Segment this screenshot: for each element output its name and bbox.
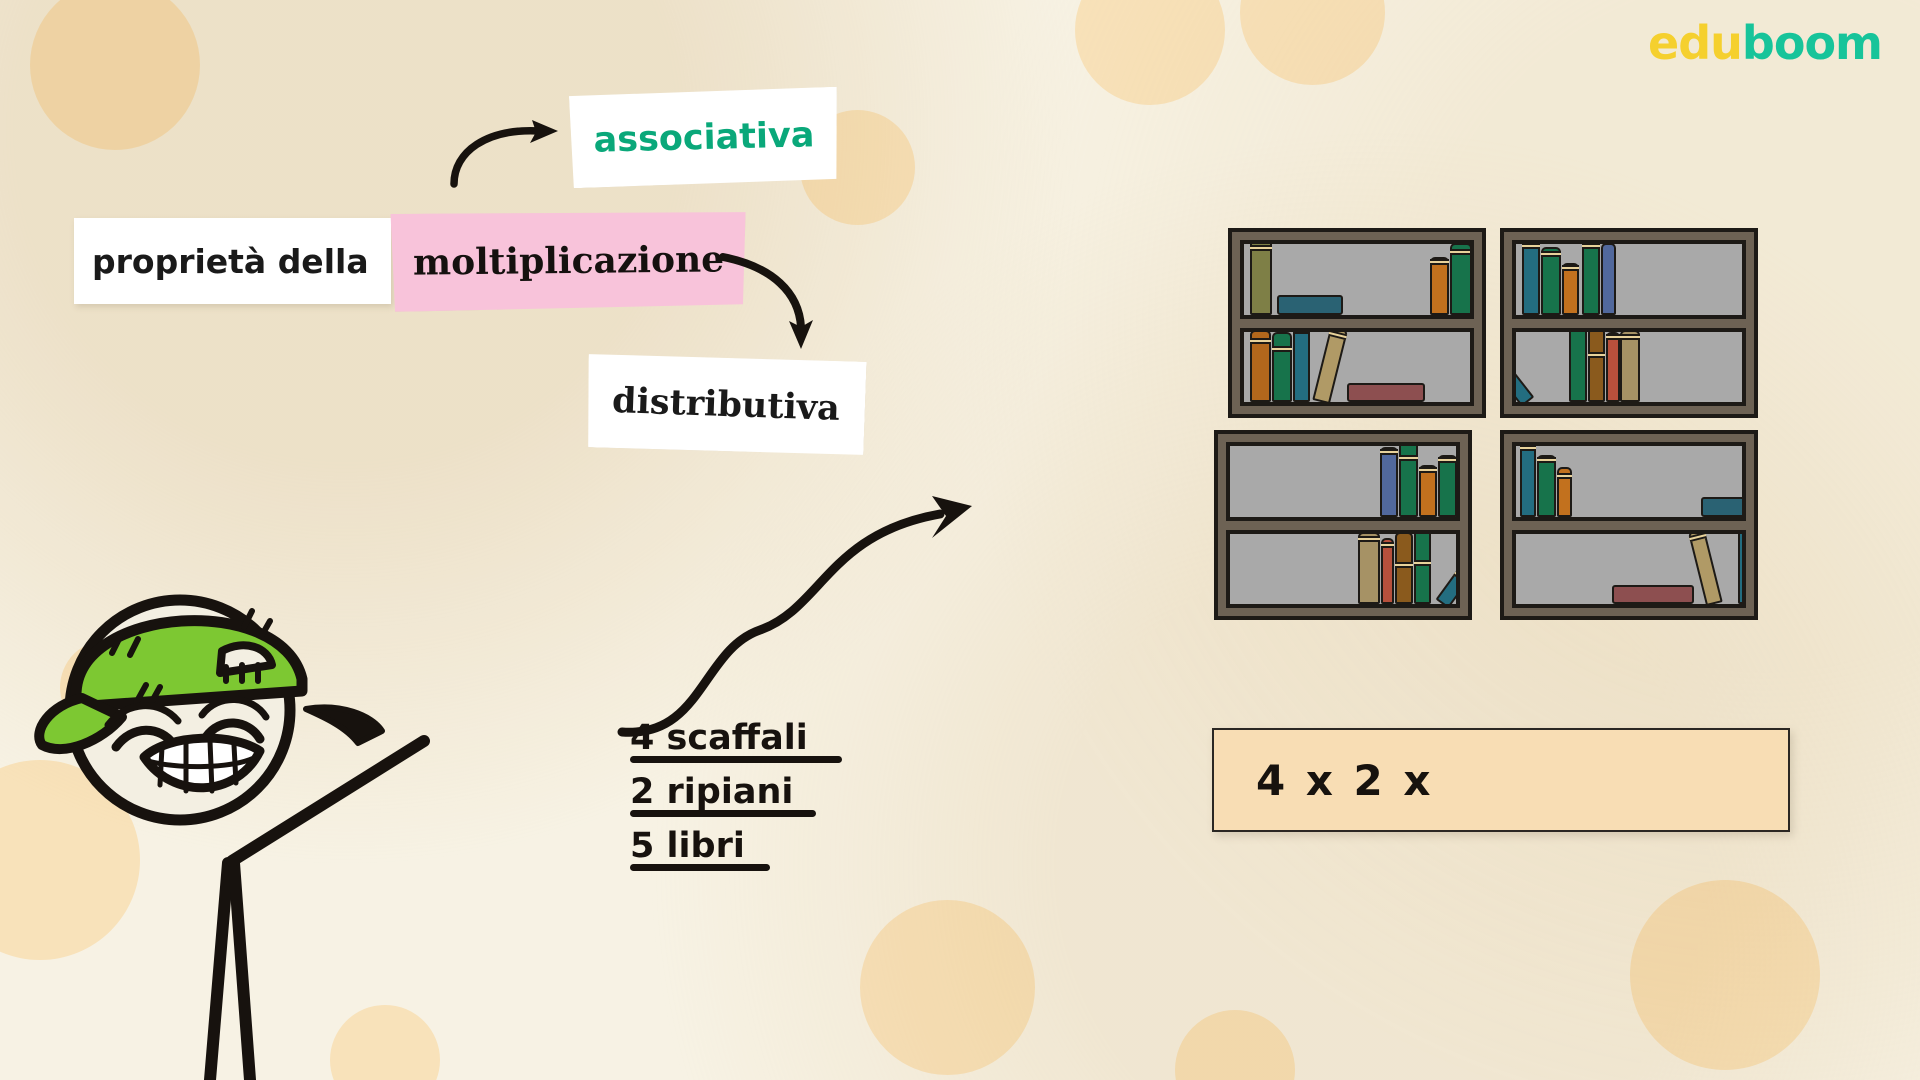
book-spine — [1569, 328, 1587, 403]
formula-box: 4 x 2 x — [1212, 728, 1790, 832]
book-band — [1380, 449, 1398, 455]
book-band — [1689, 532, 1707, 542]
formula-expression: 4 x 2 x — [1256, 756, 1434, 805]
book-band — [1399, 455, 1418, 461]
book-band — [1419, 467, 1437, 473]
stick-figure-character — [20, 555, 540, 1080]
brand-logo-edu: edu — [1648, 16, 1742, 70]
title-keyword-card: moltiplicazione — [390, 210, 746, 312]
bookshelf-unit-bottom-left — [1214, 430, 1472, 620]
book-spine — [1450, 243, 1472, 315]
book-band — [1293, 328, 1310, 334]
book-band — [1250, 338, 1271, 344]
book-spine — [1582, 240, 1600, 315]
book-spine — [1473, 240, 1474, 315]
book-spine — [1380, 447, 1398, 517]
book-spine — [1601, 243, 1616, 315]
bookshelf-row — [1512, 530, 1746, 609]
book-spine — [1512, 358, 1534, 406]
book-spine — [1395, 532, 1413, 604]
book-band — [1438, 457, 1457, 463]
title-strip: proprietà della moltiplicazione — [74, 218, 746, 304]
book-spine — [1419, 465, 1437, 517]
book-band — [1569, 328, 1587, 331]
character-leg-left — [210, 863, 228, 1080]
book-flat — [1277, 295, 1343, 315]
book-spine — [1414, 530, 1431, 605]
book-flat — [1701, 497, 1746, 517]
quantity-line-2: 5 libri — [630, 826, 745, 866]
book-spine — [1620, 330, 1640, 402]
branch-label-distributiva: distributiva — [611, 380, 840, 429]
bookshelf-unit-top-left — [1228, 228, 1486, 418]
book-spine — [1557, 467, 1572, 517]
title-prefix-label: proprietà della — [92, 242, 369, 281]
bookshelf-unit-top-right — [1500, 228, 1758, 418]
brand-logo: eduboom — [1648, 16, 1882, 70]
bookshelf-row — [1512, 240, 1746, 319]
book-band — [1522, 243, 1540, 249]
book-band — [1453, 570, 1460, 584]
book-band — [1430, 259, 1449, 265]
book-spine — [1438, 455, 1457, 517]
book-band — [1381, 542, 1394, 548]
bookshelf-grid — [1228, 228, 1860, 688]
bookshelf-row — [1512, 328, 1746, 407]
book-spine — [1381, 538, 1394, 604]
book-flat — [1347, 383, 1425, 402]
book-spine — [1537, 455, 1556, 517]
book-band — [1358, 536, 1380, 542]
book-band — [1582, 243, 1600, 249]
book-band — [1606, 334, 1620, 340]
list-item: 4 scaffali — [630, 718, 842, 763]
branch-card-associativa: associativa — [569, 87, 839, 189]
branch-card-distributiva: distributiva — [585, 352, 866, 457]
book-band — [1537, 457, 1556, 463]
quantity-line-1: 2 ripiani — [630, 772, 793, 812]
character-leg-right — [234, 863, 250, 1080]
book-band — [1250, 245, 1272, 251]
book-band — [1557, 473, 1572, 479]
book-band — [1541, 251, 1561, 257]
book-spine — [1738, 530, 1746, 605]
book-spine — [1250, 240, 1272, 315]
book-spine — [1436, 562, 1460, 608]
book-band — [1473, 240, 1474, 245]
book-band — [1620, 334, 1640, 340]
book-band — [1738, 530, 1746, 535]
book-band — [1520, 445, 1536, 451]
bookshelf-unit-bottom-right — [1500, 430, 1758, 620]
book-spine — [1358, 532, 1380, 604]
bookshelf-row — [1512, 442, 1746, 521]
list-item: 2 ripiani — [630, 772, 842, 817]
bookshelf-row — [1240, 328, 1474, 407]
book-spine — [1458, 442, 1460, 517]
book-spine — [1588, 328, 1605, 402]
list-item: 5 libri — [630, 826, 842, 871]
book-spine — [1541, 247, 1561, 315]
book-band — [1562, 265, 1579, 271]
book-band — [1588, 352, 1605, 358]
quantities-list: 4 scaffali 2 ripiani 5 libri — [630, 718, 842, 880]
book-band — [1272, 346, 1292, 352]
book-spine — [1272, 332, 1292, 402]
book-spine — [1250, 330, 1271, 402]
bookshelf-row — [1226, 442, 1460, 521]
bookshelf-row — [1226, 530, 1460, 609]
book-flat — [1612, 585, 1694, 604]
book-spine — [1522, 241, 1540, 315]
quantity-line-0: 4 scaffali — [630, 718, 808, 758]
branch-label-associativa: associativa — [593, 115, 815, 160]
book-band — [1328, 330, 1347, 340]
book-spine — [1562, 263, 1579, 315]
book-band — [1414, 560, 1431, 566]
book-spine — [1312, 328, 1348, 405]
book-band — [1450, 249, 1472, 255]
book-spine — [1520, 445, 1536, 517]
title-keyword-label: moltiplicazione — [412, 238, 723, 283]
book-band — [1512, 366, 1513, 381]
book-spine — [1399, 442, 1418, 517]
bookshelf-row — [1240, 240, 1474, 319]
title-prefix-card: proprietà della — [74, 218, 391, 304]
book-band — [1458, 443, 1460, 449]
brand-logo-boom: boom — [1742, 16, 1882, 70]
book-spine — [1606, 332, 1620, 402]
book-band — [1395, 562, 1413, 568]
pointing-hand — [306, 707, 382, 743]
book-spine — [1293, 328, 1310, 403]
book-spine — [1430, 257, 1449, 315]
